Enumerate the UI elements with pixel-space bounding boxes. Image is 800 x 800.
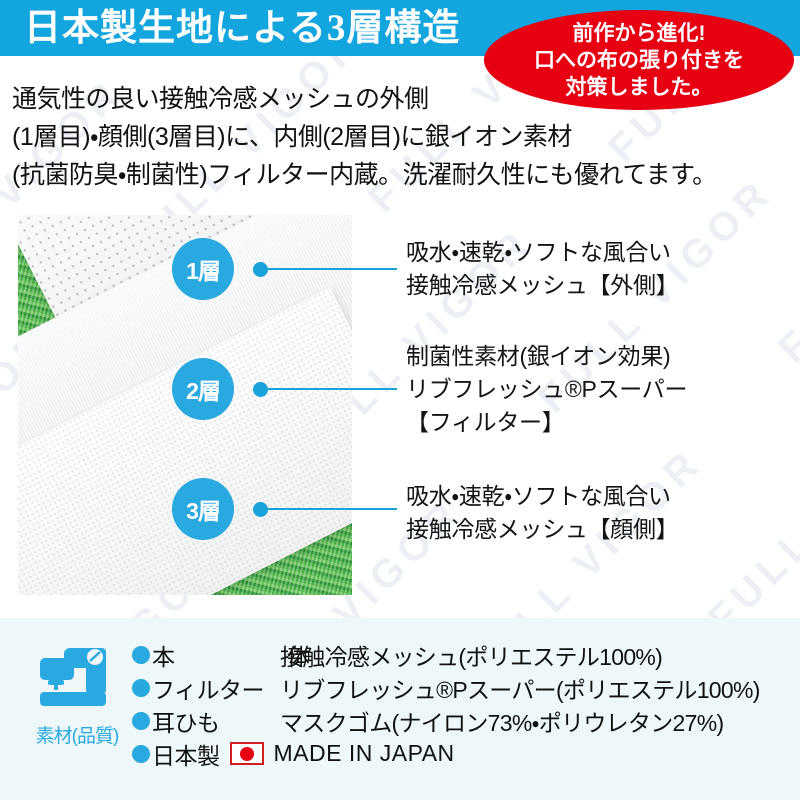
page-title: 日本製生地による3層構造 <box>24 4 460 54</box>
materials-term: 耳ひも <box>152 704 280 738</box>
description-line-3: (抗菌防臭・制菌性)フィルター内蔵。洗濯耐久性にも優れてます。 <box>12 156 788 194</box>
layer-leader-line-3 <box>262 508 397 510</box>
layer-leader-line-1 <box>262 268 397 270</box>
promo-badge: 前作から進化! 口への布の張り付きを 対策しました。 <box>484 10 794 110</box>
materials-row: 耳ひも マスクゴム(ナイロン73%・ポリウレタン27%) <box>132 704 760 737</box>
layer-callout-2-line-2: リブフレッシュ®Pスーパー <box>406 373 687 406</box>
layer-badge-3: 3層 <box>172 478 234 540</box>
sewing-machine-icon <box>34 640 120 714</box>
materials-term: フィルター <box>152 671 280 705</box>
layer-leader-line-2 <box>262 388 397 390</box>
flag-sun-shape <box>240 747 254 761</box>
infographic-page: FULL VIGOR FULL VIGOR FULL VIGOR FULL VI… <box>0 0 800 800</box>
materials-row: 本 体 接触冷感メッシュ(ポリエステル100%) <box>132 638 760 671</box>
materials-desc: マスクゴム(ナイロン73%・ポリウレタン27%) <box>280 704 723 738</box>
materials-row: フィルター リブフレッシュ®Pスーパー(ポリエステル100%) <box>132 671 760 704</box>
materials-icon-group: 素材(品質) <box>22 640 132 748</box>
bullet-icon <box>132 745 150 763</box>
layer-callout-2: 制菌性素材(銀イオン効果) リブフレッシュ®Pスーパー 【フィルター】 <box>406 340 687 439</box>
layer-callout-3: 吸水・速乾・ソフトな風合い 接触冷感メッシュ【顔側】 <box>406 480 678 546</box>
materials-icon-label: 素材(品質) <box>22 721 132 748</box>
layer-callout-1-line-1: 吸水・速乾・ソフトな風合い <box>406 236 678 269</box>
description-line-2: (1層目)・顔側(3層目)に、内側(2層目)に銀イオン素材 <box>12 118 788 156</box>
materials-panel: 素材(品質) 本 体 接触冷感メッシュ(ポリエステル100%) フィルター リブ… <box>0 618 800 800</box>
bullet-icon <box>132 679 150 697</box>
layer-callout-2-line-3: 【フィルター】 <box>406 406 687 439</box>
materials-list: 本 体 接触冷感メッシュ(ポリエステル100%) フィルター リブフレッシュ®P… <box>132 638 760 770</box>
promo-badge-line-2: 口への布の張り付きを <box>534 47 744 74</box>
origin-term: 日本製 <box>152 737 220 771</box>
layer-callout-1-line-2: 接触冷感メッシュ【外側】 <box>406 269 678 302</box>
bullet-icon <box>132 712 150 730</box>
layer-callout-3-line-2: 接触冷感メッシュ【顔側】 <box>406 513 678 546</box>
promo-badge-line-3: 対策しました。 <box>566 74 713 101</box>
materials-term: 本 体 <box>152 638 280 672</box>
made-in-japan-text: MADE IN JAPAN <box>274 740 455 767</box>
materials-desc: リブフレッシュ®Pスーパー(ポリエステル100%) <box>280 671 760 705</box>
watermark-text: FULL VIGOR <box>700 390 800 642</box>
layer-callout-1: 吸水・速乾・ソフトな風合い 接触冷感メッシュ【外側】 <box>406 236 678 302</box>
japan-flag-icon <box>230 742 264 765</box>
materials-origin-row: 日本製 MADE IN JAPAN <box>132 737 760 770</box>
layer-callout-2-line-1: 制菌性素材(銀イオン効果) <box>406 340 687 373</box>
materials-desc: 接触冷感メッシュ(ポリエステル100%) <box>280 638 662 672</box>
bullet-icon <box>132 646 150 664</box>
layer-badge-1: 1層 <box>172 238 234 300</box>
layer-badge-2: 2層 <box>172 358 234 420</box>
layer-callout-3-line-1: 吸水・速乾・ソフトな風合い <box>406 480 678 513</box>
promo-badge-line-1: 前作から進化! <box>573 20 706 47</box>
